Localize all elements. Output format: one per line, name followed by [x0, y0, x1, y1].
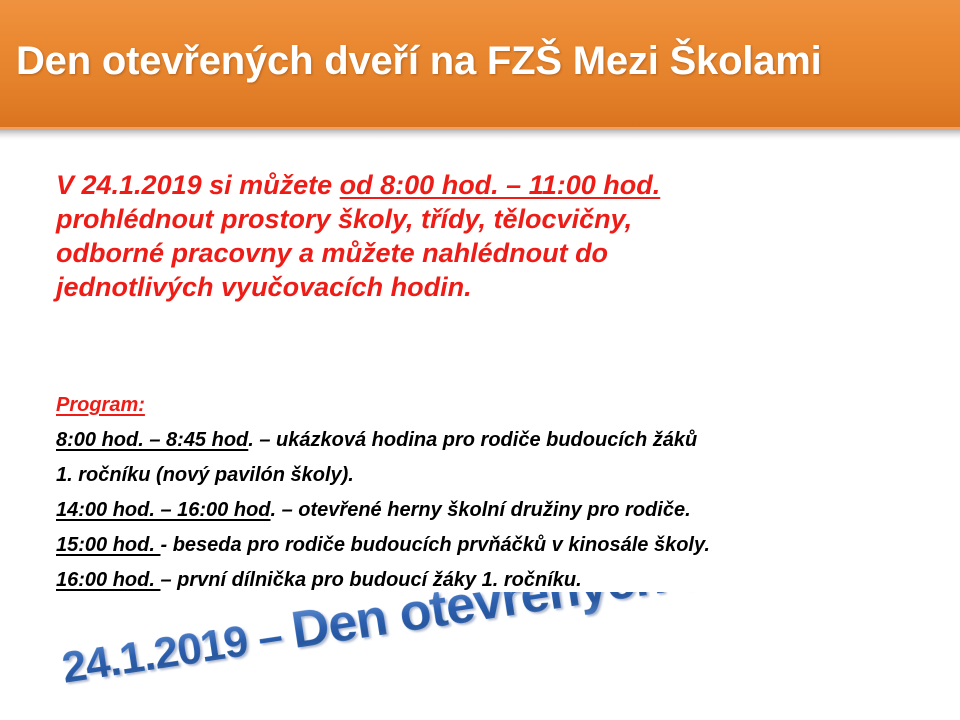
intro-line2: prohlédnout prostory školy, třídy, těloc…: [56, 204, 632, 234]
program-item-text: 1. ročníku (nový pavilón školy).: [56, 464, 354, 486]
program-item: 15:00 hod. - beseda pro rodiče budoucích…: [56, 528, 936, 563]
program-item-text: . – otevřené herny školní družiny pro ro…: [271, 499, 691, 521]
wordart-caption: Den otevřených dveří.: [288, 592, 813, 660]
intro-line3: odborné pracovny a můžete nahlédnout do: [56, 238, 608, 268]
intro-paragraph: V 24.1.2019 si můžete od 8:00 hod. – 11:…: [56, 168, 926, 304]
program-heading: Program:: [56, 388, 936, 423]
title-banner: Den otevřených dveří na FZŠ Mezi Školami: [0, 0, 960, 127]
program-item-time: 14:00 hod. – 16:00 hod: [56, 499, 271, 521]
program-item: 14:00 hod. – 16:00 hod. – otevřené herny…: [56, 493, 936, 528]
program-item: 8:00 hod. – 8:45 hod. – ukázková hodina …: [56, 423, 936, 458]
intro-line1-prefix: V 24.1.2019 si můžete: [56, 170, 340, 200]
program-item-text: . – ukázková hodina pro rodiče budoucích…: [248, 429, 697, 451]
program-item-text: – první dílnička pro budoucí žáky 1. roč…: [160, 569, 581, 591]
page-title: Den otevřených dveří na FZŠ Mezi Školami: [16, 38, 946, 84]
program-item-time: 16:00 hod.: [56, 569, 160, 591]
wordart-text: 24.1.2019 – Den otevřených dveří.: [58, 592, 813, 696]
program-item: 1. ročníku (nový pavilón školy).: [56, 458, 936, 493]
program-item-time: 15:00 hod.: [56, 534, 160, 556]
wordart-date: 24.1.2019 –: [59, 609, 296, 692]
program-item-time: 8:00 hod. – 8:45 hod: [56, 429, 248, 451]
intro-opening-hours: od 8:00 hod. – 11:00 hod.: [340, 170, 661, 200]
slide-canvas: Den otevřených dveří na FZŠ Mezi Školami…: [0, 0, 960, 720]
wordart-footer: 24.1.2019 – Den otevřených dveří.: [0, 592, 960, 720]
banner-drop-shadow: [0, 130, 960, 140]
intro-line4: jednotlivých vyučovacích hodin.: [56, 272, 472, 302]
program-block: Program: 8:00 hod. – 8:45 hod. – ukázkov…: [56, 388, 936, 598]
program-item-text: - beseda pro rodiče budoucích prvňáčků v…: [160, 534, 709, 556]
